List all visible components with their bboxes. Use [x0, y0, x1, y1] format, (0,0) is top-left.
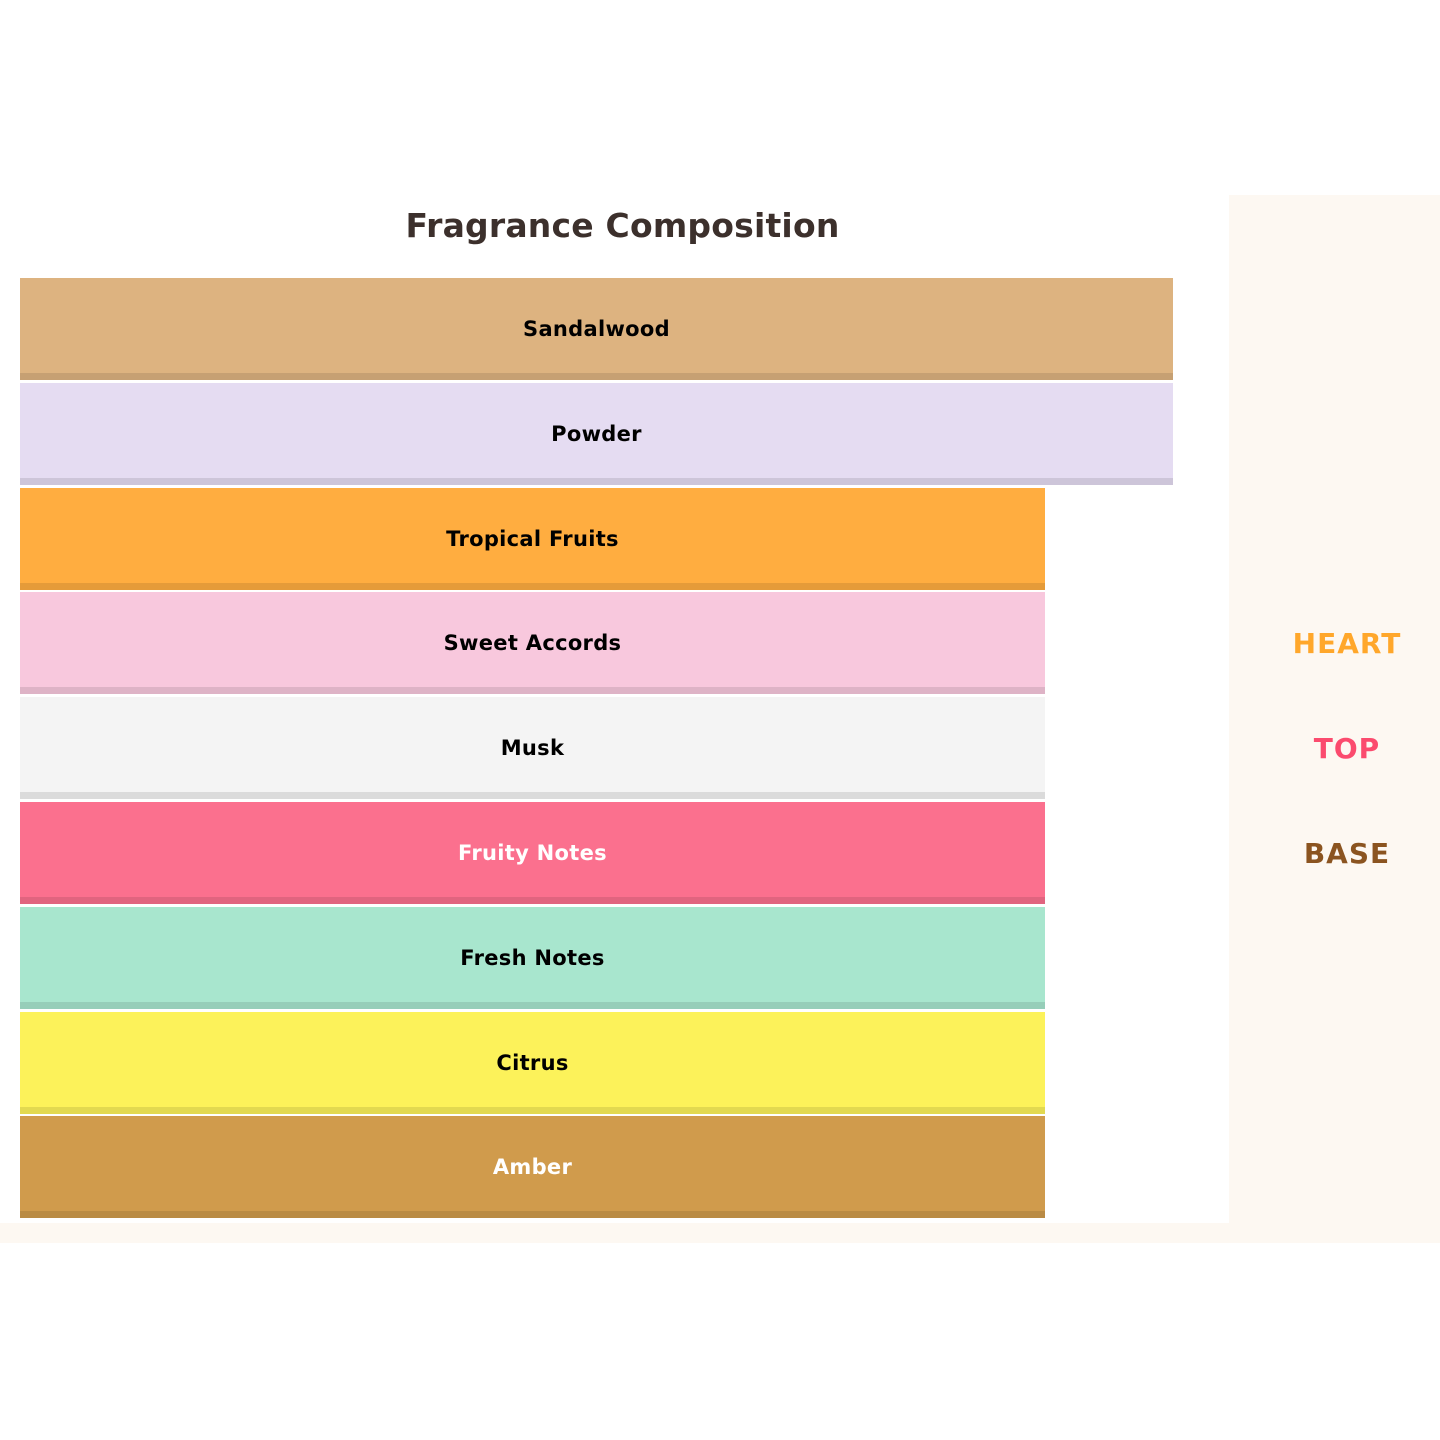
bar-fill: [20, 278, 1173, 380]
bar-fill: [20, 1012, 1045, 1114]
bar-bottom-shade: [20, 1107, 1045, 1114]
bar-fill: [20, 488, 1045, 590]
legend-item-top[interactable]: TOP: [1287, 732, 1407, 765]
bar-sandalwood[interactable]: Sandalwood: [20, 278, 1173, 380]
bar-bottom-shade: [20, 687, 1045, 694]
bar-fill: [20, 1116, 1045, 1218]
bar-fill: [20, 383, 1173, 485]
legend-item-base[interactable]: BASE: [1287, 837, 1407, 870]
bar-amber[interactable]: Amber: [20, 1116, 1045, 1218]
bar-fill: [20, 907, 1045, 1009]
bar-fill: [20, 802, 1045, 904]
bar-fresh-notes[interactable]: Fresh Notes: [20, 907, 1045, 1009]
bar-bottom-shade: [20, 373, 1173, 380]
bar-bottom-shade: [20, 583, 1045, 590]
bar-fill: [20, 697, 1045, 799]
bar-fruity-notes[interactable]: Fruity Notes: [20, 802, 1045, 904]
bar-bottom-shade: [20, 478, 1173, 485]
bar-bottom-shade: [20, 897, 1045, 904]
bar-musk[interactable]: Musk: [20, 697, 1045, 799]
bar-bottom-shade: [20, 792, 1045, 799]
bar-powder[interactable]: Powder: [20, 383, 1173, 485]
legend-item-heart[interactable]: HEART: [1287, 627, 1407, 660]
bar-citrus[interactable]: Citrus: [20, 1012, 1045, 1114]
bar-tropical-fruits[interactable]: Tropical Fruits: [20, 488, 1045, 590]
bar-fill: [20, 592, 1045, 694]
chart-title: Fragrance Composition: [0, 206, 1245, 245]
chart-canvas: Fragrance Composition SandalwoodPowderTr…: [0, 0, 1440, 1440]
bar-bottom-shade: [20, 1002, 1045, 1009]
bar-sweet-accords[interactable]: Sweet Accords: [20, 592, 1045, 694]
bar-bottom-shade: [20, 1211, 1045, 1218]
